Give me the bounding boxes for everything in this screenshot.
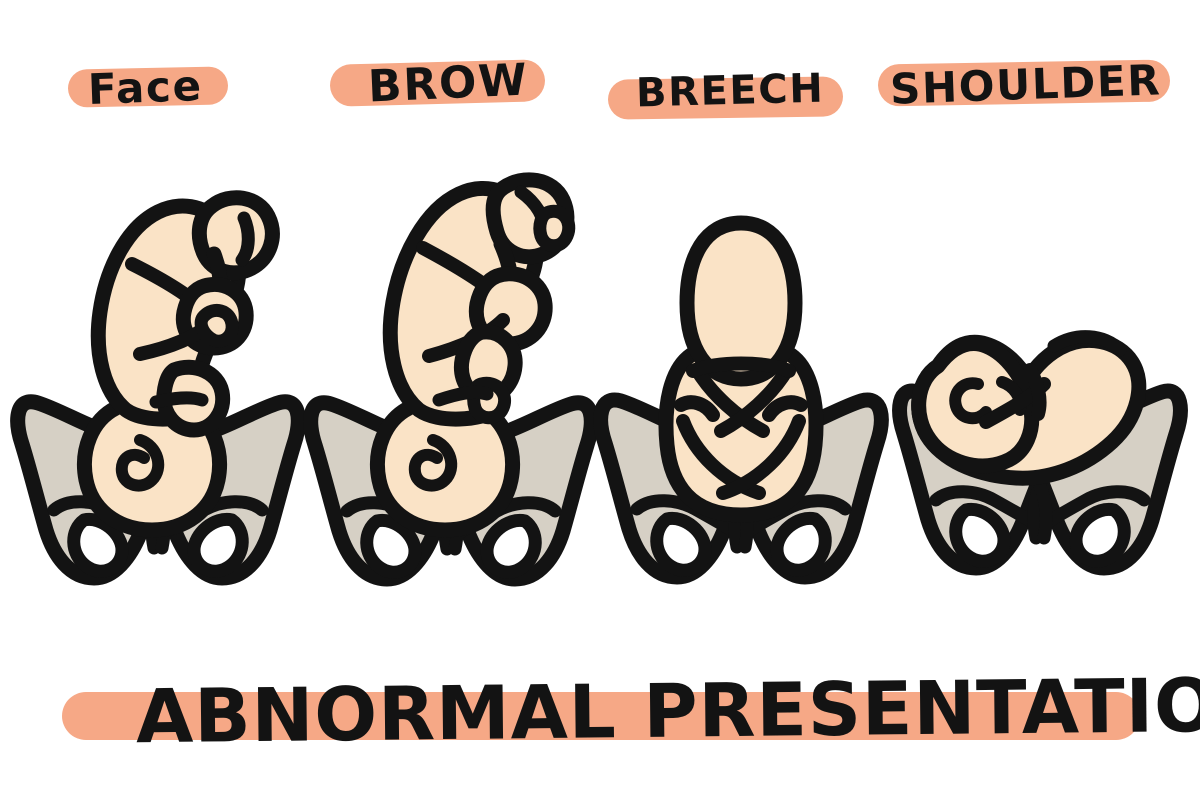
label-breech: BREECH (635, 66, 825, 117)
obturator-foramen-right (487, 520, 535, 572)
coccyx-center (1040, 486, 1046, 538)
figure-face-presentation (8, 158, 308, 598)
label-face: Face (87, 61, 203, 114)
figure-brow-presentation (305, 152, 605, 602)
fetus-face-tip (540, 211, 569, 245)
illustration-canvas: Face BROW BREECH SHOULDER (0, 0, 1200, 803)
obturator-foramen-right (194, 519, 242, 571)
fetus-knee-crease (156, 398, 202, 402)
label-shoulder: SHOULDER (889, 55, 1162, 113)
page-title: ABNORMAL PRESENTATIONS (136, 662, 1200, 761)
obturator-foramen-right (777, 518, 825, 570)
fetus-face-profile (242, 218, 248, 260)
fetus-hand (201, 310, 232, 341)
label-brow: BROW (367, 55, 529, 113)
fetus-shoulder-line (693, 364, 789, 372)
obturator-foramen-left (956, 509, 1004, 561)
figure-breech-presentation (595, 205, 885, 600)
fetus-head-up (687, 223, 795, 379)
fetus-knee-crease (439, 392, 487, 400)
obturator-foramen-left (657, 518, 705, 570)
obturator-foramen-right (1076, 509, 1124, 561)
figure-shoulder-presentation (890, 300, 1190, 600)
